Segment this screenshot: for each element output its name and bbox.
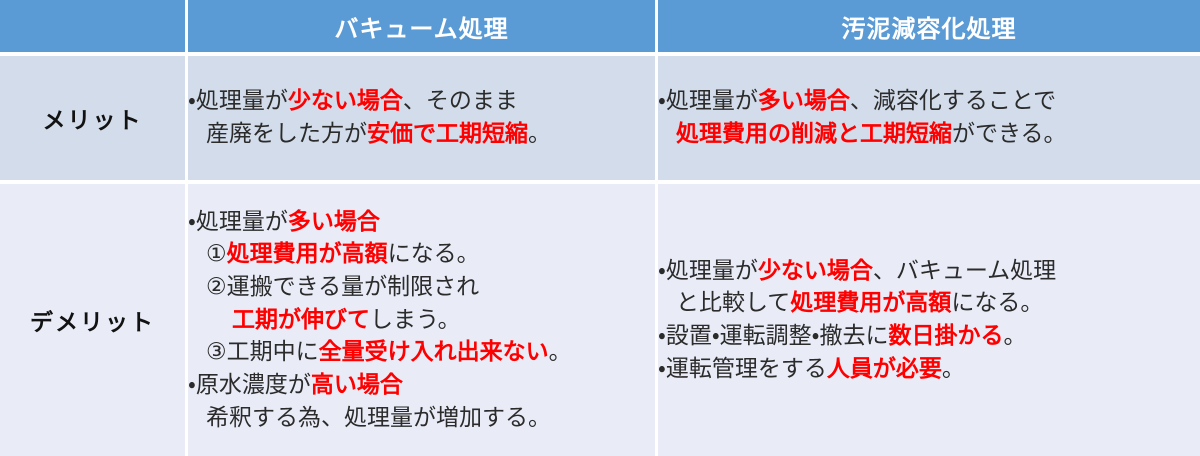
bullet-marker: ・ xyxy=(188,88,196,114)
body-text: 運転管理をする xyxy=(666,356,827,382)
highlighted-text: 安価で工期短縮 xyxy=(367,121,528,147)
highlighted-text: 処理費用が高額 xyxy=(227,241,388,267)
body-text: 処理量が xyxy=(196,209,288,235)
body-text: ②運搬できる量が制限され xyxy=(206,274,479,300)
highlighted-text: 数日掛かる xyxy=(888,323,1003,349)
header-column-vacuum: バキューム処理 xyxy=(188,0,658,56)
body-text: ① xyxy=(206,241,227,267)
body-text: 希釈する為、処理量が増加する。 xyxy=(206,405,551,431)
body-text: 、そのまま xyxy=(403,88,518,114)
body-text: 。 xyxy=(549,339,572,365)
highlighted-text: 処理費用の削減と工期短縮 xyxy=(676,121,952,147)
highlighted-text: 高い場合 xyxy=(311,372,403,398)
body-text: 処理量が xyxy=(666,88,758,114)
body-text: と比較して xyxy=(676,290,790,316)
bullet-marker: ・ xyxy=(188,209,196,235)
highlighted-text: 人員が必要 xyxy=(827,356,942,382)
body-text: 設置・運転調整・撤去に xyxy=(666,323,889,349)
bullet-marker: ・ xyxy=(658,356,666,382)
body-text: 処理量が xyxy=(666,258,758,284)
body-text: 産廃をした方が xyxy=(206,121,367,147)
text-line: 産廃をした方が安価で工期短縮。 xyxy=(188,118,655,151)
highlighted-text: 工期が伸びて xyxy=(232,307,370,333)
highlighted-text: 少ない場合 xyxy=(758,258,873,284)
highlighted-text: 多い場合 xyxy=(758,88,850,114)
bullet-item: ・処理量が少ない場合、バキューム処理と比較して処理費用が高額になる。 xyxy=(658,255,1200,320)
body-text: ができる。 xyxy=(952,121,1067,147)
body-text: 、減容化することで xyxy=(850,88,1056,114)
text-line: ・運転管理をする人員が必要。 xyxy=(658,353,1200,386)
cell-sludge-merit: ・処理量が多い場合、減容化することで処理費用の削減と工期短縮ができる。 xyxy=(658,56,1200,184)
text-line: と比較して処理費用が高額になる。 xyxy=(658,287,1200,320)
text-line: 工期が伸びてしまう。 xyxy=(188,304,655,337)
body-text: 原水濃度が xyxy=(196,372,311,398)
bullet-marker: ・ xyxy=(188,372,196,398)
body-text: 。 xyxy=(942,356,965,382)
bullet-marker: ・ xyxy=(658,258,666,284)
table-header-row: バキューム処理 汚泥減容化処理 xyxy=(0,0,1200,56)
cell-vacuum-demerit: ・処理量が多い場合①処理費用が高額になる。②運搬できる量が制限され工期が伸びてし… xyxy=(188,184,658,456)
text-line: ・設置・運転調整・撤去に数日掛かる。 xyxy=(658,320,1200,353)
text-line: 希釈する為、処理量が増加する。 xyxy=(188,402,655,435)
bullet-marker: ・ xyxy=(658,88,666,114)
body-text: しまう。 xyxy=(370,307,461,333)
text-line: ・処理量が多い場合 xyxy=(188,206,655,239)
bullet-item: ・処理量が多い場合、減容化することで処理費用の削減と工期短縮ができる。 xyxy=(658,85,1200,150)
bullet-item: ・設置・運転調整・撤去に数日掛かる。 xyxy=(658,320,1200,353)
text-line: ・処理量が少ない場合、そのまま xyxy=(188,85,655,118)
header-corner-cell xyxy=(0,0,188,56)
row-label-demerit: デメリット xyxy=(0,184,188,456)
text-line: ・処理量が少ない場合、バキューム処理 xyxy=(658,255,1200,288)
bullet-item: ・運転管理をする人員が必要。 xyxy=(658,353,1200,386)
text-line: ①処理費用が高額になる。 xyxy=(188,238,655,271)
table-row: メリット・処理量が少ない場合、そのまま産廃をした方が安価で工期短縮。・処理量が多… xyxy=(0,56,1200,184)
row-label-merit: メリット xyxy=(0,56,188,184)
body-text: 、バキューム処理 xyxy=(873,258,1056,284)
text-line: ②運搬できる量が制限され xyxy=(188,271,655,304)
comparison-table: バキューム処理 汚泥減容化処理 メリット・処理量が少ない場合、そのまま産廃をした… xyxy=(0,0,1200,456)
cell-vacuum-merit: ・処理量が少ない場合、そのまま産廃をした方が安価で工期短縮。 xyxy=(188,56,658,184)
text-line: 処理費用の削減と工期短縮ができる。 xyxy=(658,118,1200,151)
body-text: ③工期中に xyxy=(206,339,319,365)
body-text: になる。 xyxy=(951,290,1043,316)
table-row: デメリット・処理量が多い場合①処理費用が高額になる。②運搬できる量が制限され工期… xyxy=(0,184,1200,456)
table-body: メリット・処理量が少ない場合、そのまま産廃をした方が安価で工期短縮。・処理量が多… xyxy=(0,56,1200,456)
bullet-item: ・原水濃度が高い場合希釈する為、処理量が増加する。 xyxy=(188,369,655,434)
text-line: ・処理量が多い場合、減容化することで xyxy=(658,85,1200,118)
highlighted-text: 少ない場合 xyxy=(288,88,403,114)
body-text: 。 xyxy=(1003,323,1026,349)
cell-sludge-demerit: ・処理量が少ない場合、バキューム処理と比較して処理費用が高額になる。・設置・運転… xyxy=(658,184,1200,456)
highlighted-text: 全量受け入れ出来ない xyxy=(319,339,549,365)
bullet-marker: ・ xyxy=(658,323,666,349)
body-text: 処理量が xyxy=(196,88,288,114)
text-line: ・原水濃度が高い場合 xyxy=(188,369,655,402)
bullet-item: ・処理量が多い場合①処理費用が高額になる。②運搬できる量が制限され工期が伸びてし… xyxy=(188,206,655,369)
highlighted-text: 多い場合 xyxy=(288,209,380,235)
header-column-sludge: 汚泥減容化処理 xyxy=(658,0,1200,56)
body-text: になる。 xyxy=(388,241,480,267)
body-text: 。 xyxy=(528,121,551,147)
highlighted-text: 処理費用が高額 xyxy=(790,290,951,316)
bullet-item: ・処理量が少ない場合、そのまま産廃をした方が安価で工期短縮。 xyxy=(188,85,655,150)
text-line: ③工期中に全量受け入れ出来ない。 xyxy=(188,336,655,369)
